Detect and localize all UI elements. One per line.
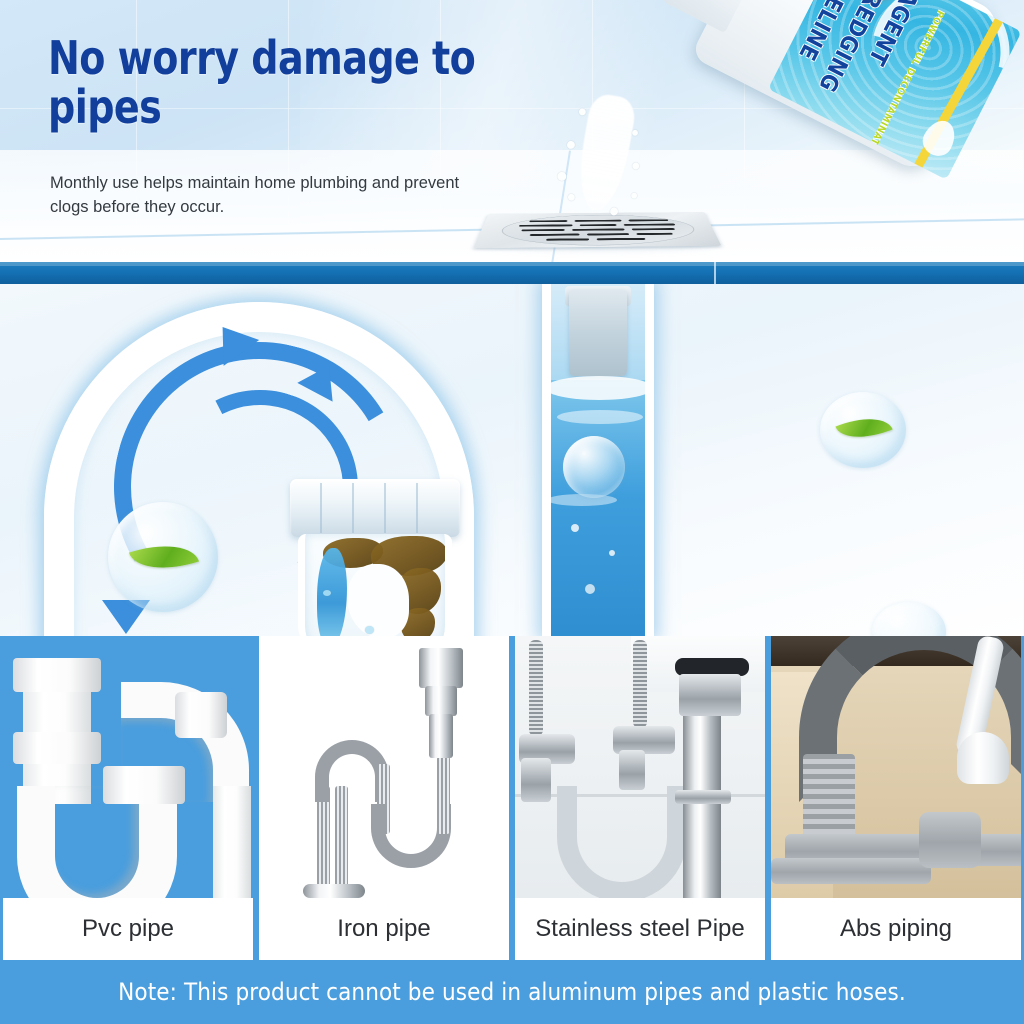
panel-label-stainless: Stainless steel Pipe (515, 898, 765, 960)
clogged-pipe-section (298, 534, 452, 636)
note-bar: Note: This product cannot be used in alu… (0, 960, 1024, 1024)
pvc-pipe-image (3, 636, 253, 898)
panel-label-pvc: Pvc pipe (3, 898, 253, 960)
pipe-type-panels: Pvc pipe Iron pipe (0, 636, 1024, 960)
eco-bubble-bottom (872, 602, 946, 636)
foam-cleaning-action (347, 564, 409, 636)
panel-label-abs: Abs piping (771, 898, 1021, 960)
panel-abs-piping[interactable]: Abs piping (768, 636, 1024, 960)
panel-stainless-steel-pipe[interactable]: Stainless steel Pipe (512, 636, 768, 960)
section-divider-bar (0, 262, 1024, 284)
divider-seam (714, 262, 716, 284)
abs-pipe-image (771, 636, 1021, 898)
bottle-body: PIPELINE DREDGING AGENT POWERFUL DECONTA… (690, 0, 1004, 175)
panel-iron-pipe[interactable]: Iron pipe (256, 636, 512, 960)
page-subtitle: Monthly use helps maintain home plumbing… (50, 172, 470, 220)
page-title: No worry damage to pipes (48, 34, 526, 132)
panel-label-iron: Iron pipe (259, 898, 509, 960)
pipe-plug (569, 290, 627, 376)
bubble-in-pipe (563, 436, 625, 498)
eco-bubble-right (820, 392, 906, 468)
water-stream (317, 548, 347, 636)
floor-drain-icon (473, 212, 721, 248)
chrome-p-trap (557, 786, 687, 898)
iron-pipe-image (259, 636, 509, 898)
panel-pvc-pipe[interactable]: Pvc pipe (0, 636, 256, 960)
eco-bubble-left (108, 502, 218, 612)
pipe-diagram-section (0, 284, 1024, 636)
leaf-icon (835, 407, 892, 449)
stainless-pipe-image (515, 636, 765, 898)
note-text: Note: This product cannot be used in alu… (118, 978, 906, 1006)
vertical-pipe-illustration (542, 284, 654, 636)
pipe-coupling-nut (290, 479, 460, 537)
product-infographic: No worry damage to pipes Monthly use hel… (0, 0, 1024, 1024)
vertical-pipe-interior (551, 284, 645, 636)
leaf-icon (129, 533, 199, 581)
hero-section: No worry damage to pipes Monthly use hel… (0, 0, 1024, 262)
